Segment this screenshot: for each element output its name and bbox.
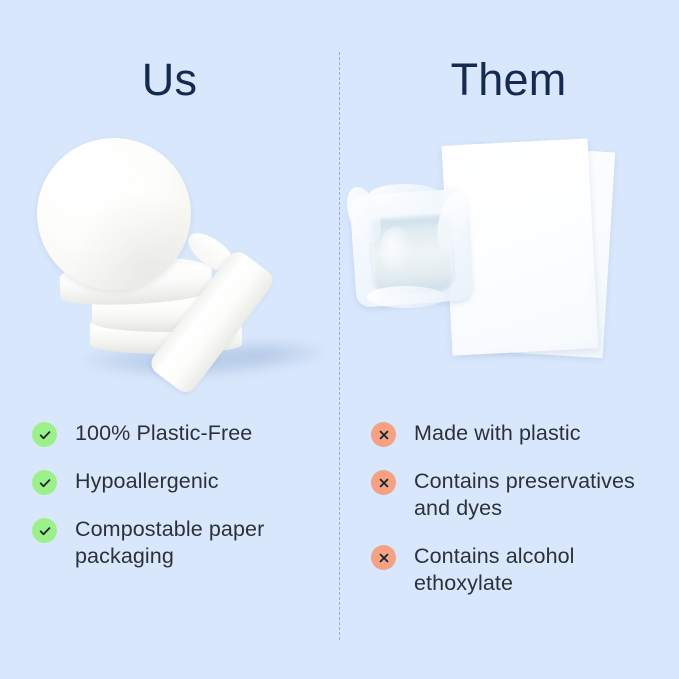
list-item-label: Contains alcohol ethoxylate [414,543,671,597]
list-item: Contains alcohol ethoxylate [371,543,671,597]
list-item: Hypoallergenic [32,468,332,495]
list-item-label: Compostable paper packaging [75,516,332,570]
list-item: Compostable paper packaging [32,516,332,570]
list-item-label: Contains preservatives and dyes [414,468,671,522]
list-item-label: 100% Plastic-Free [75,420,252,447]
check-icon [32,518,57,543]
list-item-label: Hypoallergenic [75,468,219,495]
check-icon [32,422,57,447]
list-item-label: Made with plastic [414,420,581,447]
drawbacks-list-them: Made with plastic Contains preservatives… [371,420,671,618]
list-item: 100% Plastic-Free [32,420,332,447]
comparison-infographic: Us Them 100 [0,0,679,679]
benefits-list-us: 100% Plastic-Free Hypoallergenic Compost… [32,420,332,591]
sachet-crinkle-bottom [367,286,445,308]
list-item: Made with plastic [371,420,671,447]
cross-icon [371,545,396,570]
cross-icon [371,470,396,495]
upright-tablet-face [37,138,191,290]
product-image-us [0,128,339,400]
column-heading-us: Us [0,52,339,108]
list-item: Contains preservatives and dyes [371,468,671,522]
cross-icon [371,422,396,447]
check-icon [32,470,57,495]
product-image-them [339,128,678,400]
column-heading-them: Them [339,52,678,108]
sachet-crinkle-top [369,184,441,206]
